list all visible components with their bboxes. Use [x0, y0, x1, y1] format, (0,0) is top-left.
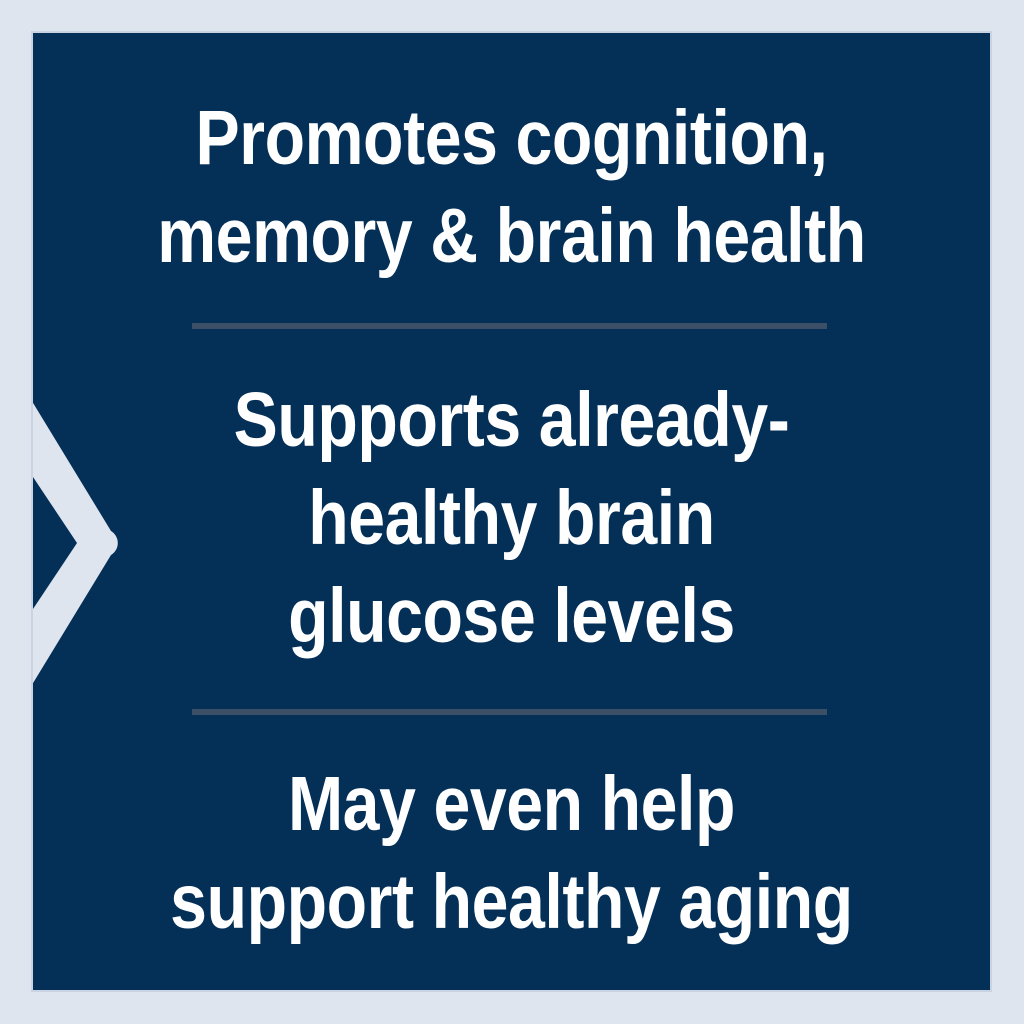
- benefit-divider-1: [192, 323, 827, 329]
- benefit-item-supports-brain-glucose: Supports already- healthy brain glucose …: [100, 371, 923, 665]
- benefit-item-supports-healthy-aging: May even help support healthy aging: [100, 755, 923, 951]
- benefits-panel-stage: Promotes cognition, memory & brain healt…: [0, 0, 1024, 1024]
- benefits-content: Promotes cognition, memory & brain healt…: [33, 33, 990, 990]
- benefit-divider-2: [192, 709, 827, 715]
- benefit-item-promotes-cognition: Promotes cognition, memory & brain healt…: [100, 89, 923, 285]
